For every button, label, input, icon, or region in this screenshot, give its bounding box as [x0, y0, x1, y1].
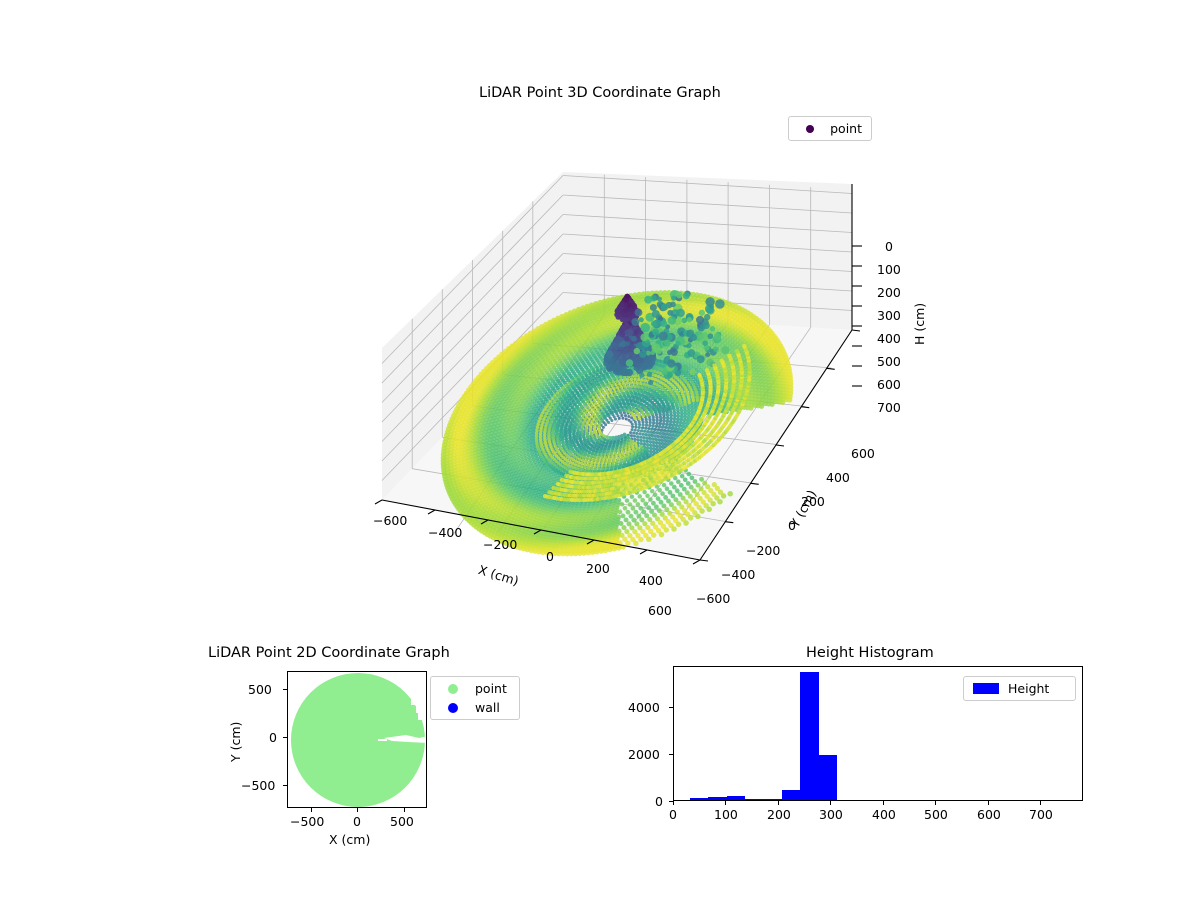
plot2d-xlabel: X (cm)	[329, 832, 370, 847]
histogram-bar	[800, 672, 818, 800]
legend-label: point	[466, 681, 507, 696]
plot3d-xtick-0: −600	[373, 513, 407, 528]
plot3d-ztick-1: 100	[877, 262, 901, 277]
height-patch-icon	[973, 683, 999, 694]
hist-xtickmark-0	[673, 801, 674, 805]
histogram-bar	[690, 798, 708, 800]
plot3d-ytick-6: −600	[696, 591, 730, 606]
plot3d-zlabel: H (cm)	[912, 303, 927, 345]
plot3d-ztick-2: 200	[877, 285, 901, 300]
plot3d-xtick-1: −400	[428, 525, 462, 540]
plot3d-ytick-4: −200	[746, 543, 780, 558]
plot2d-xtick-0: −500	[290, 814, 324, 829]
histogram-bar	[745, 799, 763, 800]
legend-item-wall[interactable]: wall	[431, 698, 519, 717]
histogram-title: Height Histogram	[806, 645, 934, 661]
hist-xtickmark-7	[1040, 801, 1041, 805]
plot3d-xtick-4: 200	[586, 561, 610, 576]
plot3d-canvas	[330, 140, 930, 630]
hist-ytickmark-2	[669, 707, 673, 708]
plot2d-ytickmark-0	[283, 689, 287, 690]
hist-xtick-0: 0	[669, 807, 677, 822]
point-marker-icon	[440, 684, 466, 694]
plot3d-ztick-5: 500	[877, 354, 901, 369]
matplotlib-figure: LiDAR Point 3D Coordinate Graph point	[0, 0, 1200, 900]
hist-xtickmark-5	[935, 801, 936, 805]
legend-item-point[interactable]: point	[431, 679, 519, 698]
hist-ytick-0: 0	[655, 794, 663, 809]
plot2d-ytick-2: −500	[241, 778, 275, 793]
plot2d-axes[interactable]	[287, 671, 427, 808]
plot3d-ytick-5: −400	[721, 567, 755, 582]
legend-item-point[interactable]: point	[789, 119, 871, 138]
legend-label: wall	[466, 700, 500, 715]
hist-xtickmark-3	[830, 801, 831, 805]
plot3d-ztick-7: 700	[877, 400, 901, 415]
legend-item-height[interactable]: Height	[964, 679, 1075, 698]
plot2d-ylabel: Y (cm)	[228, 722, 243, 762]
histogram-legend[interactable]: Height	[963, 676, 1076, 701]
wall-marker-icon	[440, 703, 466, 713]
plot2d-title: LiDAR Point 2D Coordinate Graph	[208, 645, 450, 661]
hist-ytick-1: 2000	[628, 747, 660, 762]
plot2d-xtickmark-2	[404, 808, 405, 812]
plot2d-xtickmark-0	[311, 808, 312, 812]
plot3d-xtick-6: 600	[648, 603, 672, 618]
plot2d-canvas	[288, 672, 427, 808]
legend-label: Height	[999, 681, 1049, 696]
plot2d-xtick-1: 0	[353, 814, 361, 829]
hist-xtick-2: 200	[767, 807, 791, 822]
hist-xtickmark-6	[988, 801, 989, 805]
plot2d-ytickmark-1	[283, 737, 287, 738]
hist-xtickmark-2	[778, 801, 779, 805]
plot3d-ztick-3: 300	[877, 308, 901, 323]
plot3d-xtick-5: 400	[639, 573, 663, 588]
plot3d-title: LiDAR Point 3D Coordinate Graph	[479, 85, 721, 101]
plot3d-ztick-4: 400	[877, 331, 901, 346]
histogram-bar	[727, 796, 745, 800]
hist-xtickmark-4	[883, 801, 884, 805]
plot3d-ytick-1: 400	[826, 470, 850, 485]
hist-xtickmark-1	[725, 801, 726, 805]
hist-xtick-1: 100	[714, 807, 738, 822]
plot3d-ztick-6: 600	[877, 377, 901, 392]
hist-xtick-5: 500	[924, 807, 948, 822]
hist-xtick-4: 400	[872, 807, 896, 822]
plot2d-xtick-2: 500	[390, 814, 414, 829]
plot3d-axes[interactable]	[330, 140, 930, 630]
hist-ytick-2: 4000	[628, 700, 660, 715]
plot3d-xtick-3: 0	[546, 549, 554, 564]
plot3d-ztick-0: 0	[885, 239, 893, 254]
histogram-bar	[819, 755, 837, 800]
plot2d-ytick-0: 500	[248, 682, 272, 697]
hist-ytickmark-1	[669, 754, 673, 755]
histogram-bar	[763, 799, 781, 800]
hist-xtick-6: 600	[977, 807, 1001, 822]
hist-xtick-7: 700	[1029, 807, 1053, 822]
plot2d-xtickmark-1	[357, 808, 358, 812]
plot3d-ytick-0: 600	[851, 446, 875, 461]
point-marker-icon	[798, 125, 821, 133]
histogram-bar	[708, 797, 726, 800]
legend-label: point	[821, 121, 862, 136]
plot2d-ytick-1: 0	[269, 730, 277, 745]
histogram-bar	[782, 790, 800, 800]
plot2d-legend[interactable]: point wall	[430, 676, 520, 720]
plot2d-ytickmark-2	[283, 785, 287, 786]
plot3d-legend[interactable]: point	[788, 116, 872, 141]
hist-xtick-3: 300	[819, 807, 843, 822]
plot3d-xtick-2: −200	[483, 537, 517, 552]
